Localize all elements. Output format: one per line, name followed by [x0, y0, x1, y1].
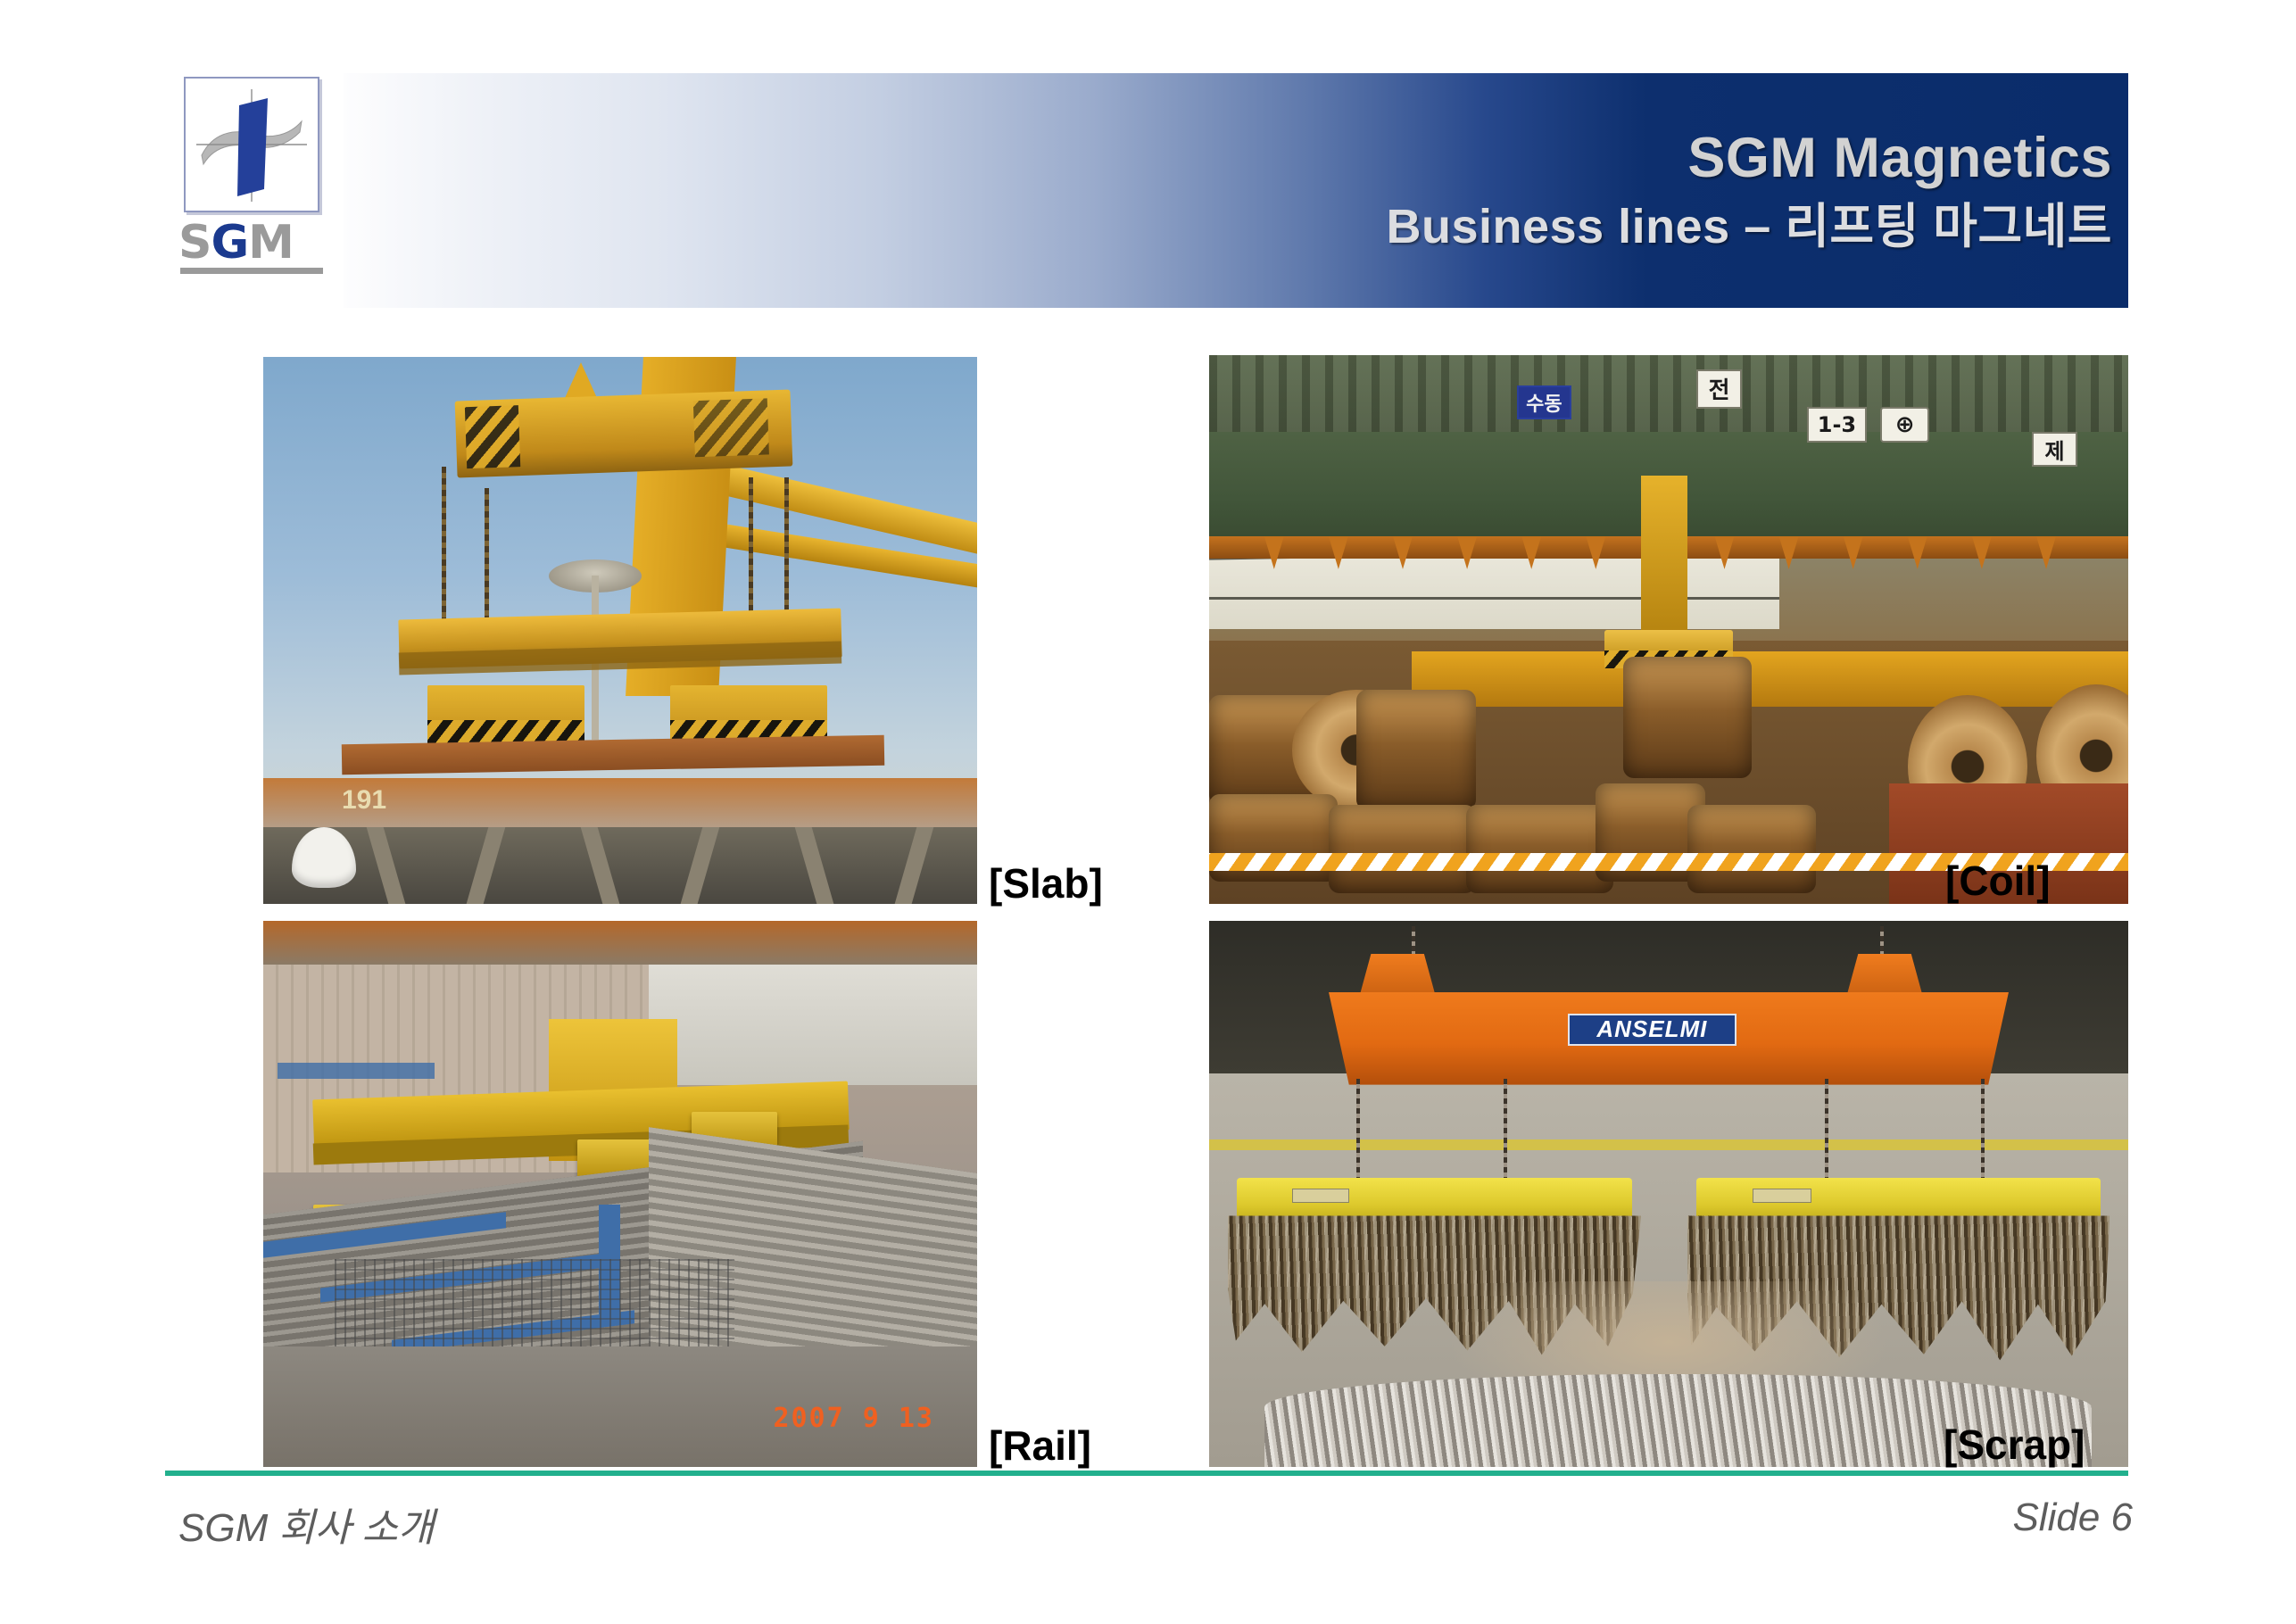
footer-left-text: SGM 회사 소개 — [178, 1496, 435, 1553]
page-title: SGM Magnetics — [1687, 129, 2112, 186]
page-subtitle: Business lines – 리프팅 마그네트 — [1387, 203, 2112, 252]
photo-rail: 2007 9 13 — [263, 921, 977, 1467]
magnet-tag-right — [1753, 1189, 1811, 1203]
sign-manual: 수동 — [1517, 385, 1571, 419]
sign-bay-number: 1-3 — [1807, 407, 1868, 443]
hysteresis-loop-icon — [184, 77, 319, 212]
header-text-group: SGM Magnetics Business lines – 리프팅 마그네트 — [344, 73, 2128, 308]
slab-girder: 191 — [263, 778, 977, 827]
footer-slide-number: Slide 6 — [2012, 1496, 2133, 1540]
wordmark-g: G — [211, 216, 248, 269]
sgm-logo: SGM — [175, 77, 334, 282]
photo-slab: 191 — [263, 357, 977, 904]
slide-canvas: SGM Magnetics Business lines – 리프팅 마그네트 … — [0, 0, 2296, 1624]
logo-underline — [180, 268, 323, 274]
wordmark-s: S — [178, 216, 211, 269]
wordmark-m: M — [248, 216, 294, 269]
magnet-tag-left — [1292, 1189, 1349, 1203]
sign-symbol: ⊕ — [1880, 407, 1930, 443]
caption-scrap: [Scrap] — [1944, 1421, 2085, 1469]
girder-number-label: 191 — [342, 785, 386, 816]
caption-rail: [Rail] — [989, 1421, 1091, 1470]
sign-jeon: 전 — [1696, 369, 1742, 409]
footer-divider — [165, 1471, 2128, 1476]
photo-coil: 수동 전 1-3 ⊕ 제 — [1209, 355, 2128, 904]
caption-slab: [Slab] — [989, 859, 1103, 907]
sgm-wordmark: SGM — [178, 220, 328, 269]
caption-coil: [Coil] — [1945, 857, 2051, 905]
photo-scrap: ANSELMI — [1209, 921, 2128, 1467]
sign-je: 제 — [2032, 432, 2077, 466]
photo-timestamp: 2007 9 13 — [773, 1403, 934, 1434]
anselmi-brand-plate: ANSELMI — [1568, 1014, 1737, 1046]
